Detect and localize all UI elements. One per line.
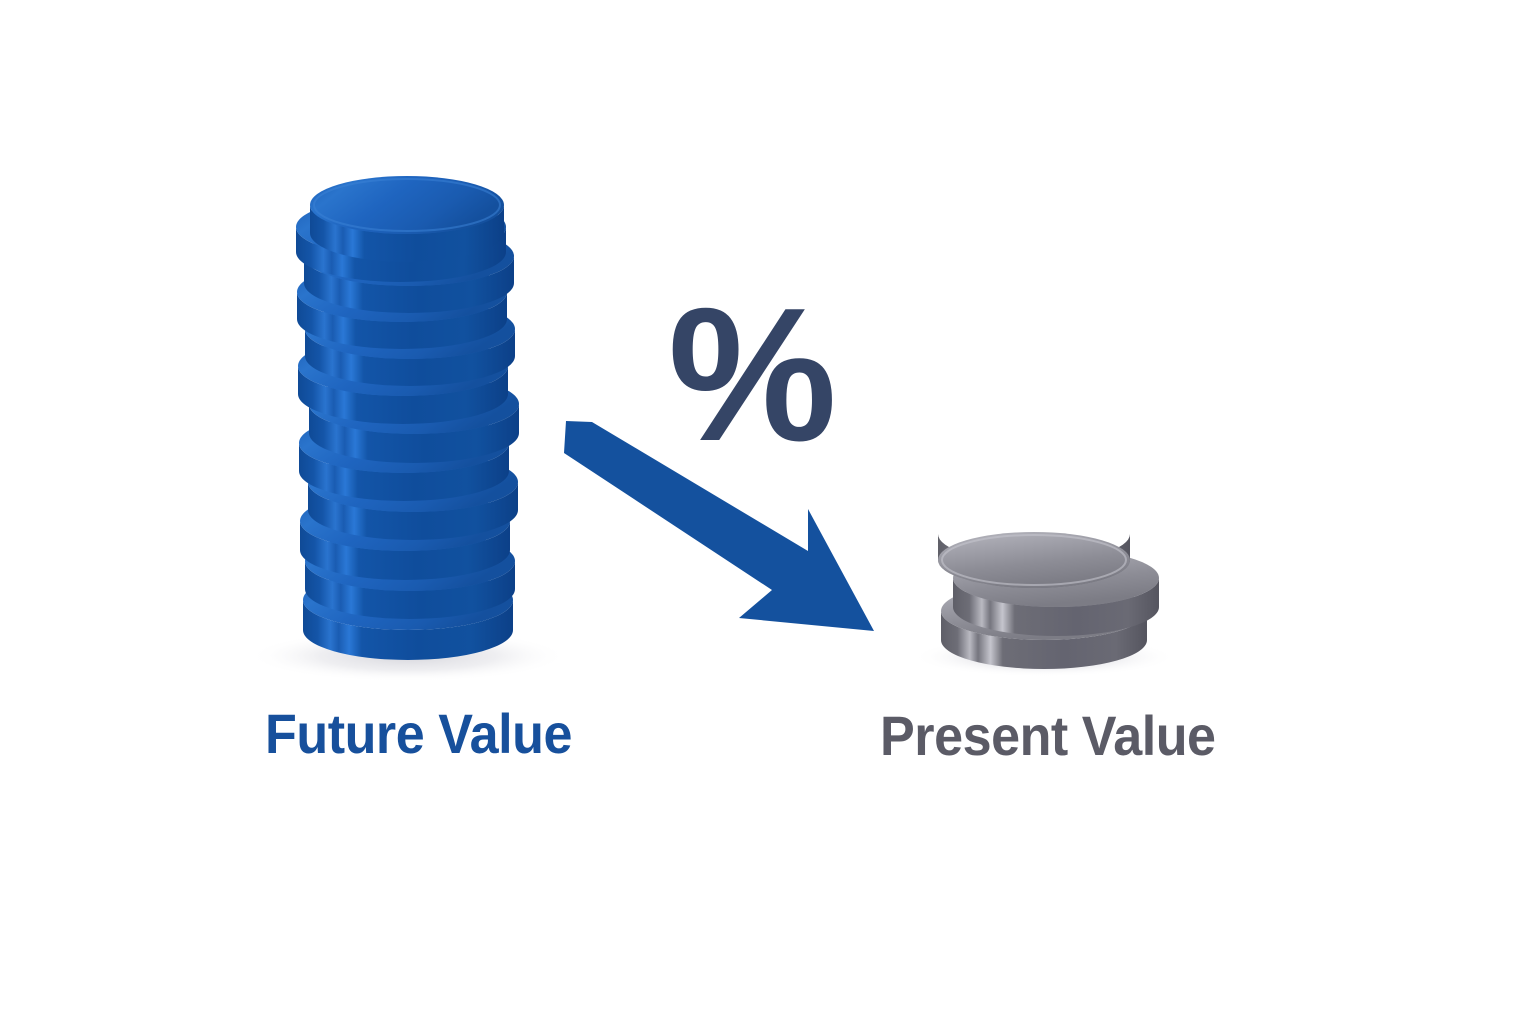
present-value-label: Present Value bbox=[880, 708, 1216, 764]
blue-coin-1 bbox=[310, 176, 504, 262]
present-value-coin-stack bbox=[912, 532, 1176, 677]
future-value-coin-stack bbox=[248, 176, 568, 682]
future-present-value-graphic: % bbox=[0, 0, 1536, 1024]
future-value-label: Future Value bbox=[265, 706, 572, 762]
illustration-canvas: % bbox=[0, 0, 1536, 1024]
percent-symbol: % bbox=[668, 269, 832, 481]
gray-coin-1 bbox=[938, 532, 1130, 588]
